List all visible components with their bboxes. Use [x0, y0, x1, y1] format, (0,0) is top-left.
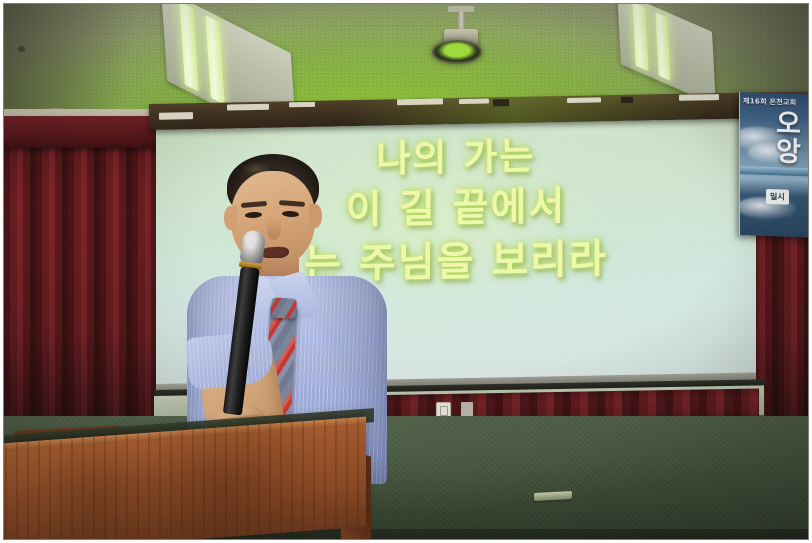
speaker-ear-right [309, 204, 322, 228]
speaker-nose [267, 218, 281, 240]
necktie-knot [271, 297, 297, 318]
ceiling-shadow-left [4, 4, 154, 114]
paper-scrap [397, 98, 443, 105]
paper-scrap [159, 112, 193, 120]
tape-piece [621, 97, 633, 103]
stage-curtain-left [4, 122, 156, 422]
curtain-valance-left [4, 116, 160, 148]
paper-scrap [289, 102, 315, 107]
banner-headline: 오 앙 [776, 110, 808, 168]
photograph: 나의 가는 이 길 끝에서 는 주님을 보리라 제16 [0, 0, 812, 543]
ceiling-speck [18, 46, 25, 52]
speaker-ear-left [224, 206, 237, 230]
paper-scrap [679, 94, 719, 101]
paper-scrap [227, 104, 269, 111]
banner-date-label: 일시 [766, 189, 789, 205]
photo-scene: 나의 가는 이 길 끝에서 는 주님을 보리라 제16 [4, 4, 808, 539]
ceiling-projector [422, 6, 494, 68]
banner-top-text: 제16회 온천교회 [743, 96, 808, 108]
projector-lens [432, 40, 482, 64]
paper-scrap [567, 97, 601, 103]
event-banner: 제16회 온천교회 오 앙 일시 [739, 92, 808, 238]
microphone-head [239, 229, 266, 266]
tape-piece [493, 99, 509, 106]
paper-scrap [459, 98, 489, 104]
